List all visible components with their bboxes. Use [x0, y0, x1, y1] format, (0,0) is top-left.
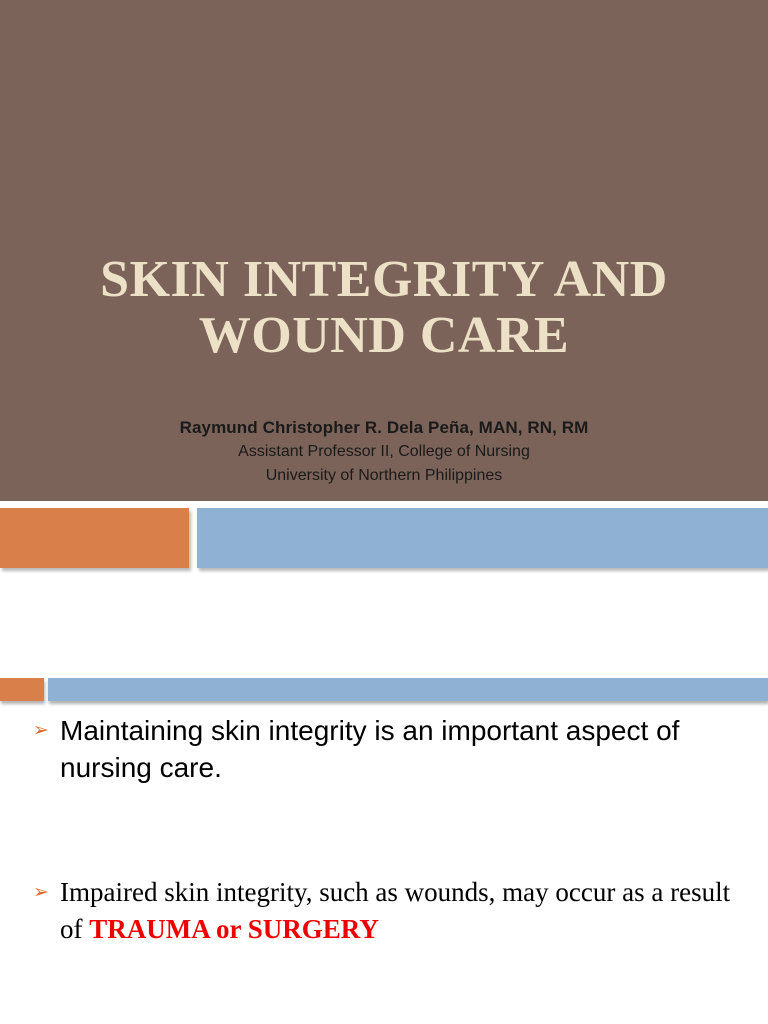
- list-item-text: Maintaining skin integrity is an importa…: [60, 715, 679, 783]
- list-item-text-emphasis: TRAUMA or SURGERY: [89, 914, 379, 944]
- title-slide: SKIN INTEGRITY AND WOUND CARE Raymund Ch…: [0, 0, 768, 576]
- author-block: Raymund Christopher R. Dela Peña, MAN, R…: [54, 416, 714, 488]
- author-organization: University of Northern Philippines: [54, 464, 714, 488]
- list-item: ➢ Impaired skin integrity, such as wound…: [0, 874, 768, 948]
- content-slide: ➢ Maintaining skin integrity is an impor…: [0, 576, 768, 1024]
- list-item-text: Impaired skin integrity, such as wounds,…: [60, 877, 730, 944]
- blue-accent-bar: [48, 678, 768, 701]
- title-accent-bar-group: [0, 508, 768, 568]
- chevron-arrow-bullet-icon: ➢: [33, 721, 49, 740]
- author-role: Assistant Professor II, College of Nursi…: [54, 440, 714, 464]
- content-accent-bar-group: [0, 678, 768, 701]
- author-name: Raymund Christopher R. Dela Peña, MAN, R…: [54, 416, 714, 440]
- orange-accent-bar: [0, 678, 44, 701]
- blue-accent-bar: [197, 508, 768, 568]
- list-item: ➢ Maintaining skin integrity is an impor…: [0, 712, 768, 786]
- slide-deck-page: SKIN INTEGRITY AND WOUND CARE Raymund Ch…: [0, 0, 768, 1024]
- bullet-list: ➢ Maintaining skin integrity is an impor…: [0, 712, 768, 948]
- chevron-arrow-bullet-icon: ➢: [33, 883, 49, 902]
- orange-accent-bar: [0, 508, 189, 568]
- page-title: SKIN INTEGRITY AND WOUND CARE: [88, 252, 680, 364]
